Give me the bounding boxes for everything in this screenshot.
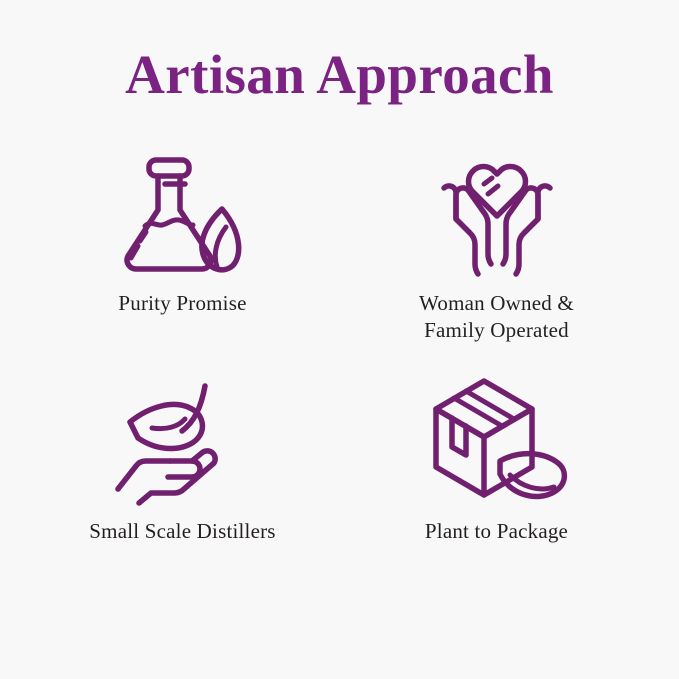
box-leaf-icon	[422, 376, 572, 508]
artisan-approach-panel: Artisan Approach Purity Promise	[0, 0, 679, 679]
feature-small-scale-distillers: Small Scale Distillers	[30, 376, 336, 604]
feature-plant-to-package: Plant to Package	[344, 376, 650, 604]
feature-label: Woman Owned & Family Operated	[419, 290, 574, 344]
hands-heart-icon	[422, 148, 572, 280]
hand-leaf-icon	[108, 376, 258, 508]
feature-purity-promise: Purity Promise	[30, 148, 336, 376]
feature-label: Purity Promise	[118, 290, 246, 317]
feature-woman-owned: Woman Owned & Family Operated	[344, 148, 650, 376]
features-grid: Purity Promise Woman Owned & Family Oper…	[30, 148, 650, 604]
page-title: Artisan Approach	[125, 0, 554, 104]
feature-label: Small Scale Distillers	[89, 518, 275, 545]
flask-leaf-icon	[108, 148, 258, 280]
feature-label: Plant to Package	[425, 518, 568, 545]
